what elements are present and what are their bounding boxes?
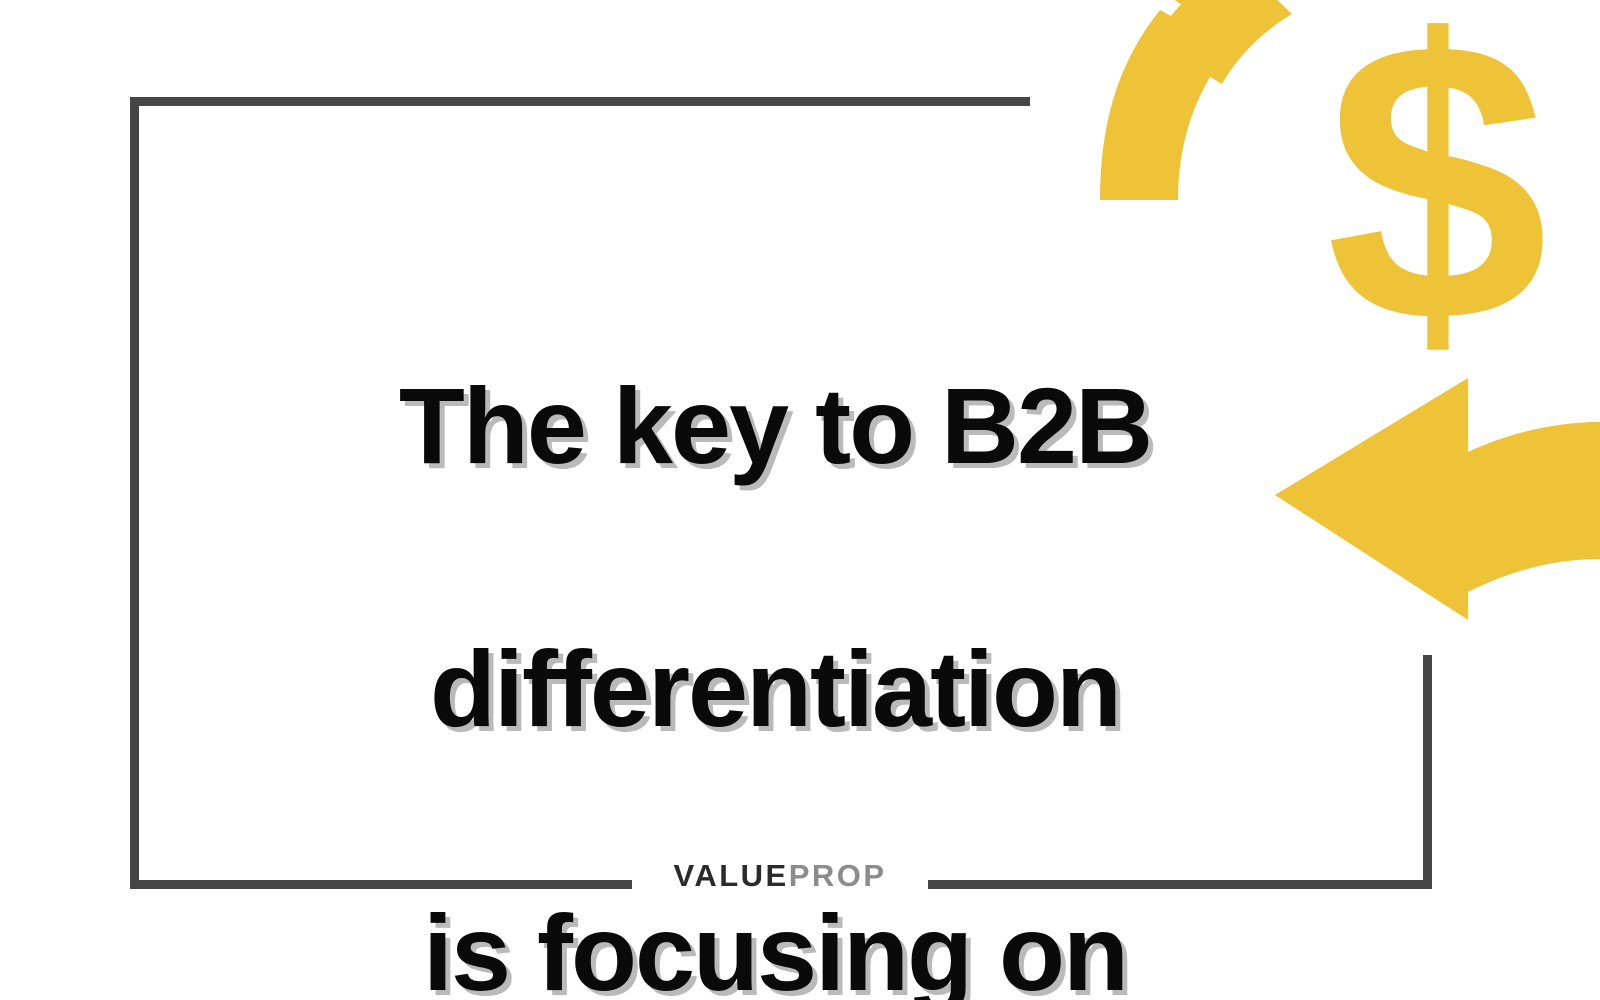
slide-canvas: $ The key to B2B differentiation is focu…: [0, 0, 1600, 1000]
dashed-arc-segment-icon: [1152, 0, 1292, 84]
dashed-arc-icon: [1100, 0, 1312, 200]
frame-left-border: [130, 97, 139, 889]
frame-right-border: [1423, 655, 1432, 889]
svg-text:$: $: [1326, 0, 1548, 405]
headline-line-3: is focusing on: [290, 887, 1260, 1000]
valueprop-logo: VALUEPROP: [632, 855, 928, 897]
dollar-sign-icon: $: [1326, 0, 1548, 405]
logo-text-prop: PROP: [789, 858, 887, 894]
headline-line-2: differentiation: [290, 623, 1260, 755]
headline-line-1: The key to B2B: [290, 360, 1260, 492]
logo-text-value: VALUE: [673, 858, 788, 894]
frame-top-border: [130, 97, 1030, 106]
left-arrow-icon: [1275, 378, 1600, 620]
